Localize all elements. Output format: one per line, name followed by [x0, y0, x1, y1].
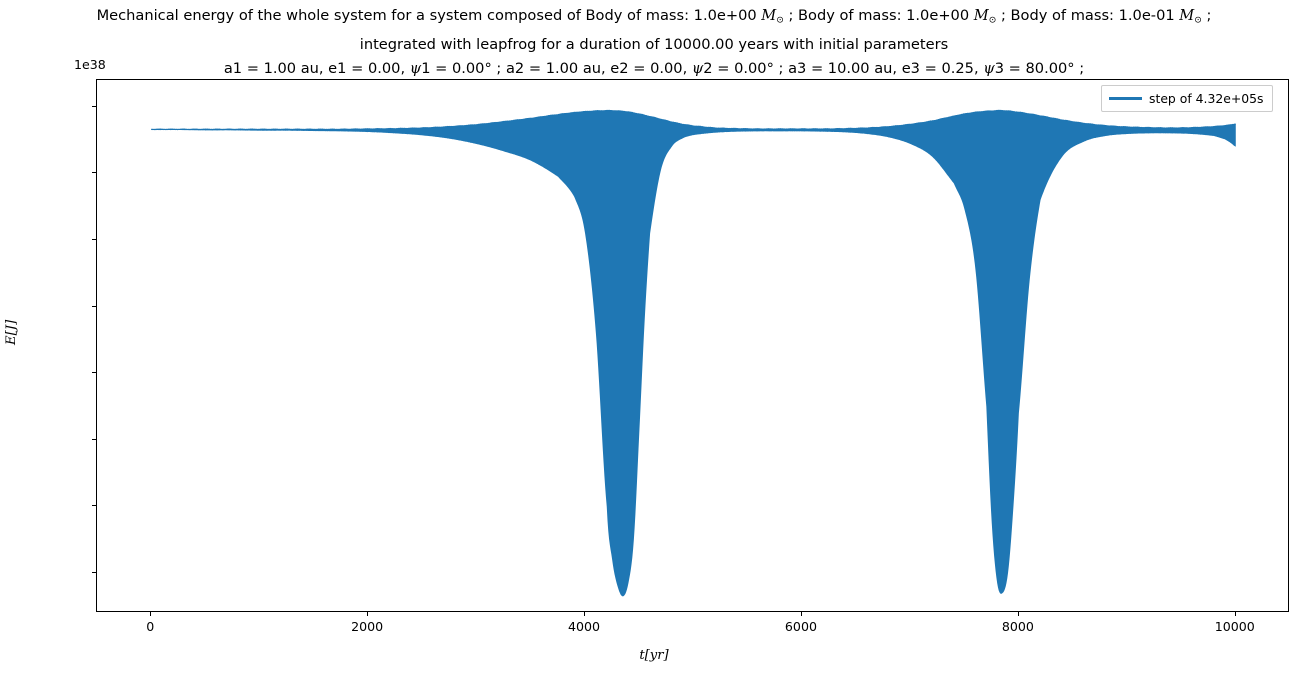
- energy-envelope-plot: [97, 80, 1289, 612]
- psi-symbol-1: ψ: [410, 60, 421, 77]
- x-tick-mark: [150, 612, 151, 616]
- x-tick-mark: [801, 612, 802, 616]
- y-tick-mark: [92, 572, 96, 573]
- title-line1-part-a: Mechanical energy of the whole system fo…: [97, 7, 762, 24]
- chart-legend[interactable]: step of 4.32e+05s: [1101, 85, 1273, 112]
- y-tick-mark: [92, 505, 96, 506]
- x-tick-label: 0: [146, 619, 154, 634]
- psi-symbol-3: ψ: [983, 60, 994, 77]
- x-axis-label-unit: [yr]: [645, 648, 669, 663]
- solar-mass-symbol-3: M: [1179, 7, 1194, 24]
- title-line3-part-c: 2 = 0.00° ; a3 = 10.00 au, e3 = 0.25,: [703, 60, 983, 77]
- y-tick-mark: [92, 306, 96, 307]
- x-tick-mark: [367, 612, 368, 616]
- x-tick-label: 2000: [351, 619, 383, 634]
- matplotlib-figure: Mechanical energy of the whole system fo…: [0, 0, 1308, 676]
- chart-title: Mechanical energy of the whole system fo…: [0, 4, 1308, 81]
- x-tick-label: 10000: [1215, 619, 1255, 634]
- x-tick-label: 8000: [1002, 619, 1034, 634]
- y-axis-label: E[J]: [4, 320, 19, 345]
- psi-symbol-2: ψ: [692, 60, 703, 77]
- x-tick-mark: [1018, 612, 1019, 616]
- y-tick-mark: [92, 372, 96, 373]
- y-tick-mark: [92, 439, 96, 440]
- chart-title-line-1: Mechanical energy of the whole system fo…: [0, 4, 1308, 33]
- title-line3-part-b: 1 = 0.00° ; a2 = 1.00 au, e2 = 0.00,: [421, 60, 692, 77]
- solar-mass-symbol-1: M: [761, 7, 776, 24]
- y-tick-mark: [92, 172, 96, 173]
- y-tick-mark: [92, 106, 96, 107]
- legend-line-swatch-icon: [1109, 97, 1142, 99]
- x-tick-mark: [1235, 612, 1236, 616]
- title-line3-part-a: a1 = 1.00 au, e1 = 0.00,: [224, 60, 410, 77]
- chart-title-line-2: integrated with leapfrog for a duration …: [0, 33, 1308, 57]
- sun-subscript-icon-3: ⊙: [1194, 16, 1202, 26]
- solar-mass-symbol-2: M: [974, 7, 989, 24]
- y-axis-offset-text: 1e38: [74, 57, 106, 72]
- x-tick-label: 4000: [568, 619, 600, 634]
- y-axis-label-symbol: E: [4, 335, 19, 345]
- x-tick-mark: [584, 612, 585, 616]
- title-line1-part-d: ;: [1202, 7, 1212, 24]
- chart-title-line-3: a1 = 1.00 au, e1 = 0.00, ψ1 = 0.00° ; a2…: [0, 57, 1308, 81]
- plot-area: [96, 79, 1289, 612]
- y-tick-mark: [92, 239, 96, 240]
- legend-entry-label: step of 4.32e+05s: [1149, 91, 1263, 106]
- title-line3-part-d: 3 = 80.00° ;: [995, 60, 1084, 77]
- x-tick-label: 6000: [785, 619, 817, 634]
- sun-subscript-icon-1: ⊙: [776, 16, 784, 26]
- title-line1-part-b: ; Body of mass: 1.0e+00: [784, 7, 974, 24]
- title-line1-part-c: ; Body of mass: 1.0e-01: [996, 7, 1179, 24]
- y-axis-label-unit: [J]: [4, 320, 19, 336]
- x-axis-label: t[yr]: [0, 648, 1308, 663]
- series-fill-area: [151, 110, 1236, 596]
